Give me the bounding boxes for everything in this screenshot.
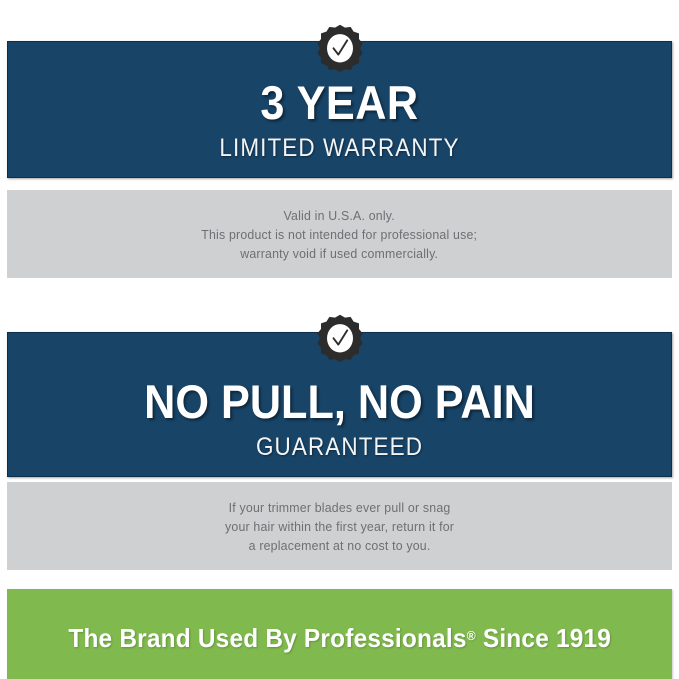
brand-footer-text: The Brand Used By Professionals® Since 1… xyxy=(68,623,611,654)
warranty-caption-text: Valid in U.S.A. only. This product is no… xyxy=(202,206,478,263)
no-pull-headline: NO PULL, NO PAIN xyxy=(35,378,645,426)
warranty-caption-line-1: Valid in U.S.A. only. xyxy=(284,208,395,223)
check-seal-icon xyxy=(316,314,364,362)
warranty-headline: 3 YEAR xyxy=(35,79,645,127)
no-pull-caption-line-1: If your trimmer blades ever pull or snag xyxy=(229,500,451,515)
no-pull-caption-line-3: a replacement at no cost to you. xyxy=(249,538,431,553)
brand-footer-text-suffix: Since 1919 xyxy=(476,623,611,653)
warranty-caption-line-3: warranty void if used commercially. xyxy=(241,246,439,261)
no-pull-subline: GUARANTEED xyxy=(41,433,638,462)
brand-footer-text-main: The Brand Used By Professionals xyxy=(68,623,466,653)
no-pull-caption: If your trimmer blades ever pull or snag… xyxy=(7,482,672,570)
warranty-subline: LIMITED WARRANTY xyxy=(41,134,638,163)
warranty-caption-line-2: This product is not intended for profess… xyxy=(202,227,478,242)
brand-footer-bar: The Brand Used By Professionals® Since 1… xyxy=(7,589,672,679)
warranty-caption: Valid in U.S.A. only. This product is no… xyxy=(7,190,672,278)
warranty-infographic: 3 YEAR LIMITED WARRANTY Valid in U.S.A. … xyxy=(0,0,679,679)
no-pull-caption-text: If your trimmer blades ever pull or snag… xyxy=(225,498,454,555)
check-seal-icon xyxy=(316,24,364,72)
no-pull-caption-line-2: your hair within the first year, return … xyxy=(225,519,454,534)
registered-trademark-icon: ® xyxy=(466,628,475,643)
